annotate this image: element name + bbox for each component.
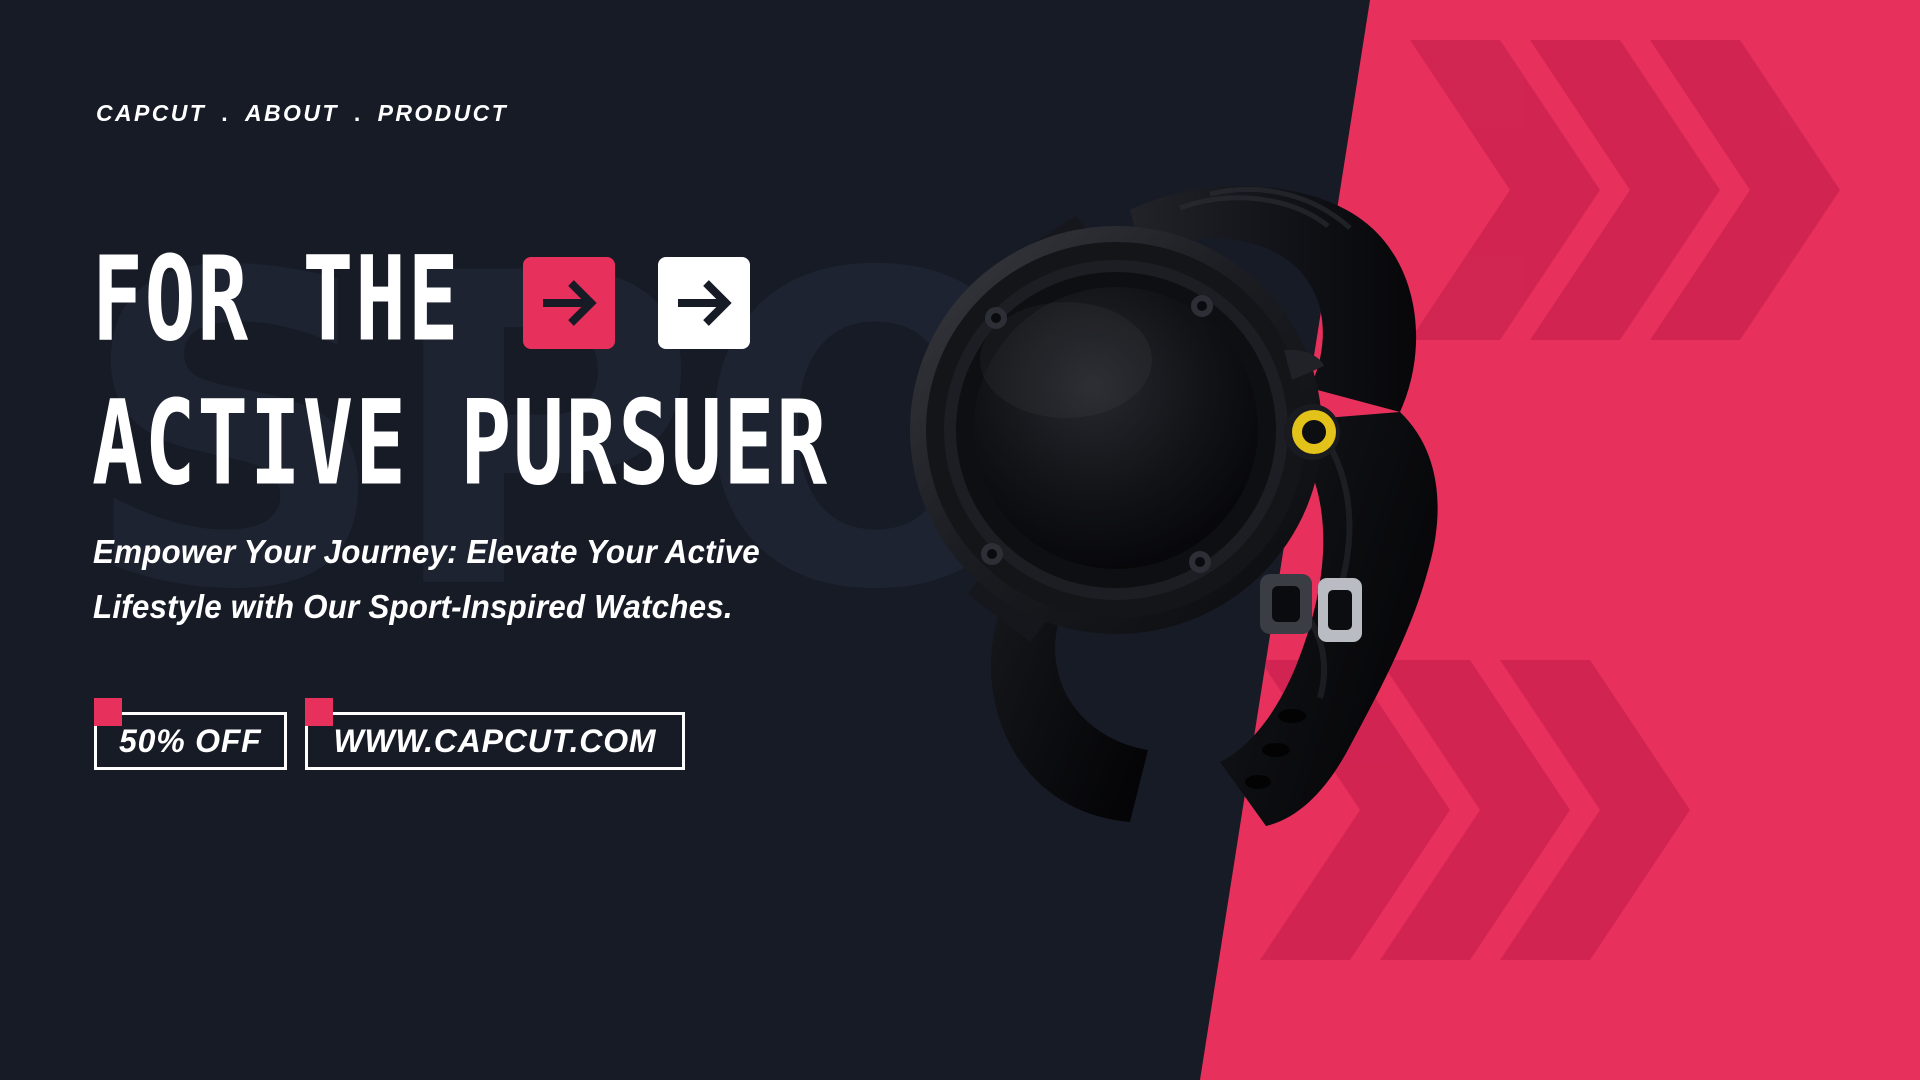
headline-line-2: ACTIVE PURSUER <box>92 386 829 501</box>
subheading-paragraph: Empower Your Journey: Elevate Your Activ… <box>93 524 760 635</box>
nav-item-product[interactable]: PRODUCT <box>378 100 509 127</box>
arrow-button-group <box>523 257 750 349</box>
product-image-smartwatch <box>880 150 1560 870</box>
badge-accent-square <box>305 698 333 726</box>
cta-badge-group: 50% OFF WWW.CAPCUT.COM <box>94 712 685 770</box>
promo-banner: SPO CAPCUT . ABOUT . PRODUCT FOR THE ACT… <box>0 0 1920 1080</box>
arrow-button-secondary[interactable] <box>658 257 750 349</box>
nav-item-capcut[interactable]: CAPCUT <box>96 100 206 127</box>
website-badge-wrapper: WWW.CAPCUT.COM <box>305 712 686 770</box>
subheading-line-2: Lifestyle with Our Sport-Inspired Watche… <box>93 579 760 634</box>
watch-crown <box>1284 404 1340 460</box>
discount-badge-wrapper: 50% OFF <box>94 712 287 770</box>
arrow-button-primary[interactable] <box>523 257 615 349</box>
nav-separator-1: . <box>206 100 245 127</box>
watch-buckle-loop <box>1260 574 1312 634</box>
discount-badge[interactable]: 50% OFF <box>94 712 287 770</box>
nav-item-about[interactable]: ABOUT <box>245 100 339 127</box>
nav-separator-2: . <box>339 100 378 127</box>
watch-buckle <box>1318 578 1362 642</box>
subheading-line-1: Empower Your Journey: Elevate Your Activ… <box>93 524 760 579</box>
website-badge[interactable]: WWW.CAPCUT.COM <box>305 712 686 770</box>
badge-accent-square <box>94 698 122 726</box>
top-navigation: CAPCUT . ABOUT . PRODUCT <box>96 100 508 127</box>
arrow-right-icon <box>676 279 732 327</box>
arrow-right-icon <box>541 279 597 327</box>
headline-block: FOR THE ACTIVE PURSUER <box>92 252 929 490</box>
